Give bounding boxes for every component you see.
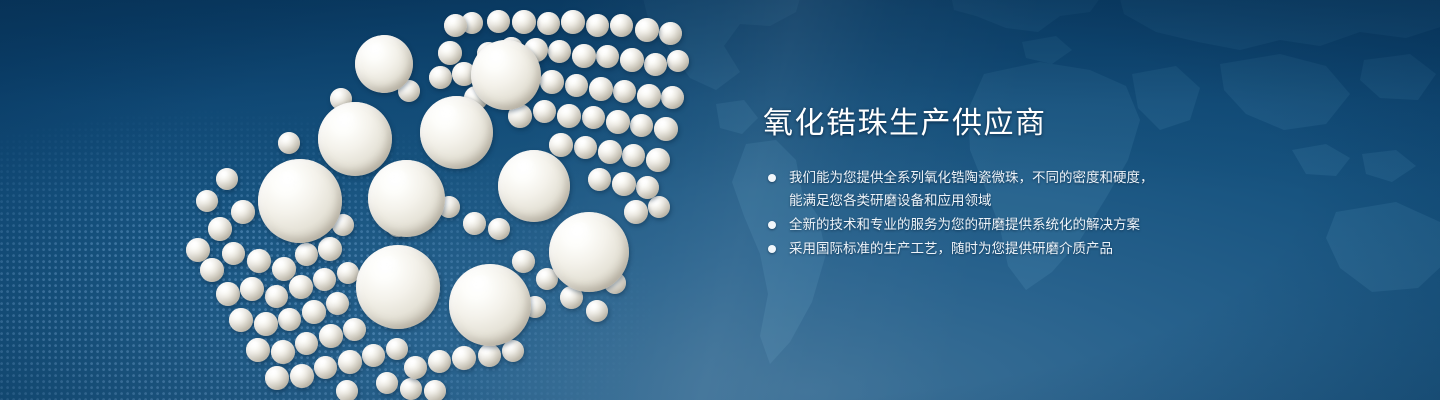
zirconia-bead [561, 10, 585, 34]
zirconia-bead [589, 77, 613, 101]
zirconia-bead [502, 340, 524, 362]
zirconia-bead [463, 212, 486, 235]
zirconia-bead [314, 356, 337, 379]
zirconia-bead [624, 200, 648, 224]
zirconia-bead [229, 308, 253, 332]
zirconia-bead [265, 366, 289, 390]
zirconia-bead [572, 44, 596, 68]
zirconia-bead [231, 200, 255, 224]
page-title: 氧化锆珠生产供应商 [763, 104, 1233, 144]
zirconia-bead [438, 41, 462, 65]
zirconia-bead [424, 380, 446, 400]
zirconia-bead [512, 10, 536, 34]
zirconia-bead [586, 300, 608, 322]
zirconia-bead [622, 144, 645, 167]
zirconia-bead [326, 292, 349, 315]
zirconia-bead [610, 14, 633, 37]
zirconia-bead [216, 168, 238, 190]
zirconia-bead [588, 168, 611, 191]
zirconia-bead [612, 172, 636, 196]
zirconia-bead [487, 10, 510, 33]
zirconia-bead [644, 53, 667, 76]
zirconia-bead [368, 160, 445, 237]
zirconia-bead [429, 66, 452, 89]
zirconia-bead [630, 114, 653, 137]
zirconia-bead [289, 275, 313, 299]
zirconia-bead [386, 338, 408, 360]
zirconia-bead [338, 350, 362, 374]
banner-copy: 氧化锆珠生产供应商 我们能为您提供全系列氧化锆陶瓷微珠，不同的密度和硬度，能满足… [763, 104, 1233, 261]
zirconia-bead [290, 364, 314, 388]
zirconia-bead [596, 45, 619, 68]
zirconia-bead [488, 218, 510, 240]
zirconia-bead [343, 318, 366, 341]
zirconia-bead [271, 340, 295, 364]
zirconia-bead [254, 312, 278, 336]
zirconia-bead [667, 50, 689, 72]
zirconia-bead [512, 250, 535, 273]
zirconia-bead [295, 243, 318, 266]
zirconia-bead [661, 86, 684, 109]
zirconia-bead [355, 35, 413, 93]
zirconia-bead [295, 332, 318, 355]
zirconia-bead [240, 277, 264, 301]
zirconia-bead [278, 132, 300, 154]
zirconia-bead [646, 148, 670, 172]
zirconia-bead [246, 338, 270, 362]
zirconia-bead [318, 102, 392, 176]
zirconia-bead [278, 308, 301, 331]
feature-list-item-line: 能满足您各类研磨设备和应用领域 [789, 189, 1233, 212]
zirconia-bead [635, 18, 659, 42]
zirconia-bead [247, 249, 271, 273]
zirconia-bead [565, 74, 588, 97]
zirconia-bead [620, 48, 644, 72]
zirconia-bead [637, 84, 661, 108]
zirconia-bead [420, 96, 493, 169]
zirconia-bead [613, 80, 636, 103]
zirconia-bead [216, 282, 240, 306]
zirconia-bead [318, 237, 342, 261]
feature-list-item: 全新的技术和专业的服务为您的研磨提供系统化的解决方案 [763, 213, 1233, 236]
zirconia-bead [449, 264, 531, 346]
zirconia-bead [444, 14, 467, 37]
zirconia-bead [362, 344, 385, 367]
zirconia-bead [537, 12, 560, 35]
zirconia-bead [265, 285, 288, 308]
zirconia-bead [313, 268, 336, 291]
zirconia-bead [376, 372, 398, 394]
feature-list: 我们能为您提供全系列氧化锆陶瓷微珠，不同的密度和硬度，能满足您各类研磨设备和应用… [763, 166, 1233, 260]
feature-list-item: 采用国际标准的生产工艺，随时为您提供研磨介质产品 [763, 237, 1233, 260]
zirconia-bead [356, 245, 440, 329]
zirconia-bead [636, 176, 659, 199]
zirconia-bead [336, 380, 358, 400]
zirconia-bead [302, 300, 326, 324]
zirconia-bead [557, 104, 581, 128]
zirconia-bead [196, 190, 218, 212]
feature-list-item-line: 全新的技术和专业的服务为您的研磨提供系统化的解决方案 [789, 213, 1233, 236]
zirconia-bead [606, 110, 630, 134]
zirconia-bead [549, 212, 629, 292]
zirconia-bead [428, 350, 451, 373]
zirconia-bead [540, 70, 564, 94]
feature-list-item-line: 采用国际标准的生产工艺，随时为您提供研磨介质产品 [789, 237, 1233, 260]
feature-list-item: 我们能为您提供全系列氧化锆陶瓷微珠，不同的密度和硬度，能满足您各类研磨设备和应用… [763, 166, 1233, 212]
zirconia-bead [452, 346, 476, 370]
zirconia-bead [319, 324, 343, 348]
hero-banner: 氧化锆珠生产供应商 我们能为您提供全系列氧化锆陶瓷微珠，不同的密度和硬度，能满足… [0, 0, 1440, 400]
zirconia-bead [598, 140, 622, 164]
zirconia-bead [648, 196, 670, 218]
zirconia-bead [659, 22, 682, 45]
zirconia-bead [586, 14, 609, 37]
zirconia-bead [478, 344, 501, 367]
zirconia-bead [400, 378, 422, 400]
zirconia-bead [574, 136, 597, 159]
zirconia-bead [258, 159, 342, 243]
zirconia-bead [654, 117, 678, 141]
zirconia-bead [404, 356, 427, 379]
zirconia-bead [548, 40, 571, 63]
zirconia-bead [471, 40, 541, 110]
zirconia-bead [200, 258, 224, 282]
feature-list-item-line: 我们能为您提供全系列氧化锆陶瓷微珠，不同的密度和硬度， [789, 166, 1233, 189]
zirconia-bead [222, 242, 245, 265]
zirconia-bead [208, 217, 232, 241]
zirconia-bead [498, 150, 570, 222]
bullet-dot-icon [768, 245, 776, 253]
bullet-dot-icon [768, 174, 776, 182]
bullet-dot-icon [768, 221, 776, 229]
zirconia-bead [533, 100, 556, 123]
zirconia-bead [582, 106, 605, 129]
zirconia-bead [549, 133, 573, 157]
